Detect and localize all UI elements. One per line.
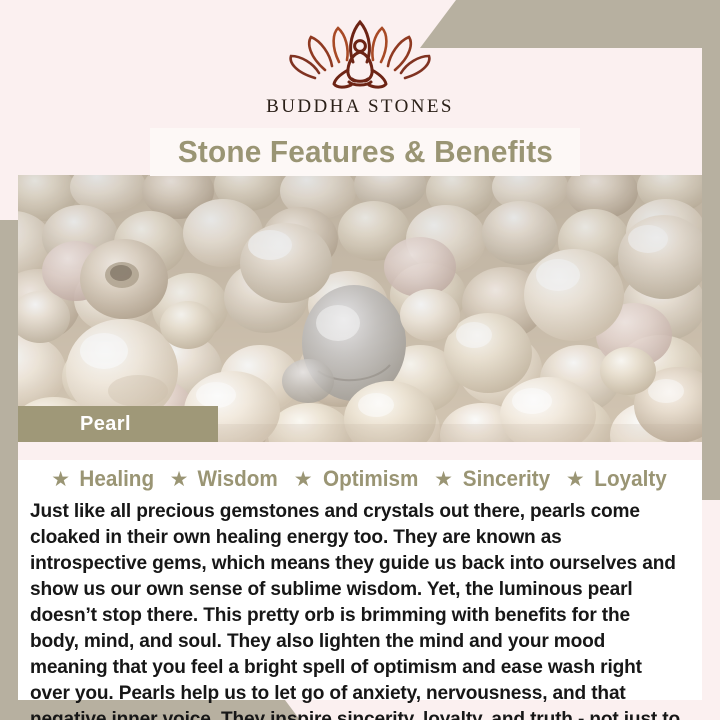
- benefit-label: Wisdom: [198, 466, 278, 492]
- star-icon: ★: [170, 469, 189, 490]
- benefit-item-sincerity: ★ Sincerity: [434, 466, 553, 492]
- brand-logo: BUDDHA STONES: [260, 16, 460, 118]
- stone-description-text: Just like all precious gemstones and cry…: [30, 498, 682, 720]
- stone-info-card: BUDDHA STONES Stone Features & Benefits: [0, 0, 720, 720]
- benefit-item-healing: ★ Healing: [51, 466, 156, 492]
- panel-top-strip: [18, 442, 702, 460]
- benefit-label: Healing: [80, 466, 155, 492]
- description-panel: ★ Healing ★ Wisdom ★ Optimism ★ Sincerit…: [18, 442, 702, 700]
- benefits-list: ★ Healing ★ Wisdom ★ Optimism ★ Sincerit…: [18, 466, 702, 492]
- title-banner: Stone Features & Benefits: [150, 128, 580, 176]
- benefit-label: Loyalty: [594, 466, 666, 492]
- pearl-photo-graphic: [18, 175, 702, 442]
- benefit-label: Sincerity: [463, 466, 550, 492]
- lotus-meditation-icon: [285, 16, 435, 94]
- page-title: Stone Features & Benefits: [177, 134, 552, 170]
- star-icon: ★: [434, 469, 453, 490]
- benefit-item-loyalty: ★ Loyalty: [566, 466, 669, 492]
- star-icon: ★: [294, 469, 313, 490]
- star-icon: ★: [566, 469, 585, 490]
- benefit-label: Optimism: [323, 466, 418, 492]
- decorative-bar-left: [0, 220, 18, 720]
- benefit-item-optimism: ★ Optimism: [294, 466, 421, 492]
- stone-name-banner: Pearl: [18, 406, 218, 442]
- pearl-photo: [18, 175, 702, 442]
- brand-name: BUDDHA STONES: [260, 96, 460, 118]
- benefit-item-wisdom: ★ Wisdom: [170, 466, 281, 492]
- star-icon: ★: [51, 469, 70, 490]
- stone-name-label: Pearl: [18, 413, 131, 436]
